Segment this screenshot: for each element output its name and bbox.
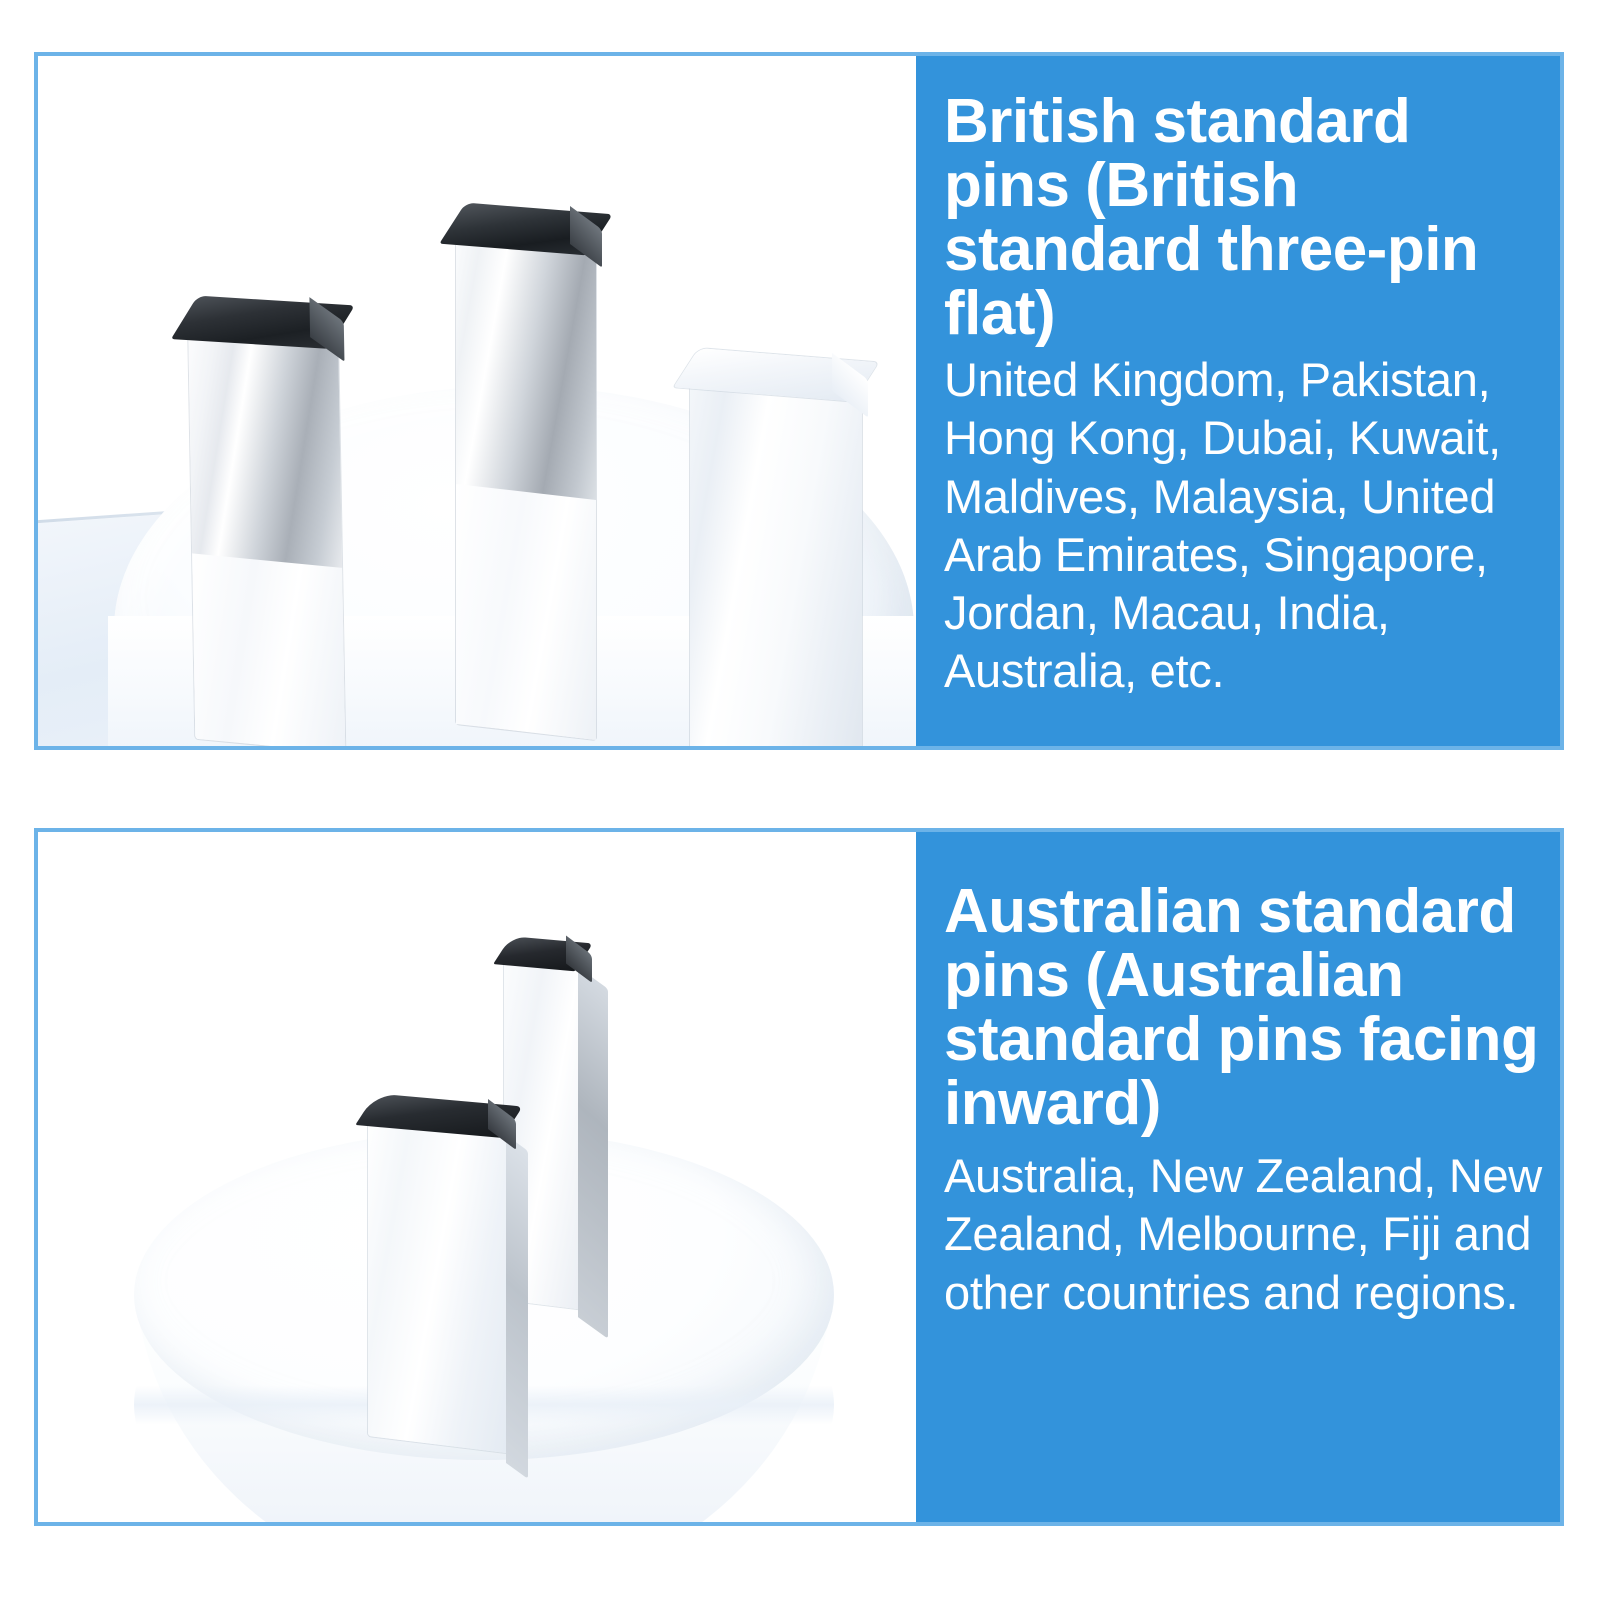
- plug-pin-middle: [456, 224, 596, 740]
- plug-pin-right: [690, 368, 862, 746]
- pin-face: [368, 1108, 510, 1453]
- panel-australian-standard: Australian standard pins (Australian sta…: [34, 828, 1564, 1526]
- panel-body-countries: Australia, New Zealand, New Zealand, Mel…: [944, 1147, 1546, 1321]
- pin-edge: [578, 967, 608, 1339]
- panel-text-australian: Australian standard pins (Australian sta…: [916, 832, 1560, 1522]
- plug-photo-scene: [38, 56, 916, 746]
- panel-heading: Australian standard pins (Australian sta…: [944, 880, 1546, 1135]
- plug-pin-left: [188, 318, 345, 746]
- panel-heading: British standard pins (British standard …: [944, 90, 1546, 345]
- au-two-pin-angled-plug-photo: [38, 832, 916, 1522]
- uk-three-pin-flat-plug-photo: [38, 56, 916, 746]
- pin-lower-insulation: [456, 484, 596, 740]
- plug-photo-scene: [38, 832, 916, 1522]
- pin-lower-insulation: [192, 554, 345, 746]
- plug-pin-front: [368, 1108, 510, 1453]
- pin-shaft: [690, 368, 862, 746]
- panel-body-countries: United Kingdom, Pakistan, Hong Kong, Dub…: [944, 351, 1546, 699]
- pin-edge: [506, 1135, 528, 1479]
- panel-british-standard: British standard pins (British standard …: [34, 52, 1564, 750]
- panel-text-british: British standard pins (British standard …: [916, 56, 1560, 746]
- infographic-sheet: British standard pins (British standard …: [0, 0, 1600, 1600]
